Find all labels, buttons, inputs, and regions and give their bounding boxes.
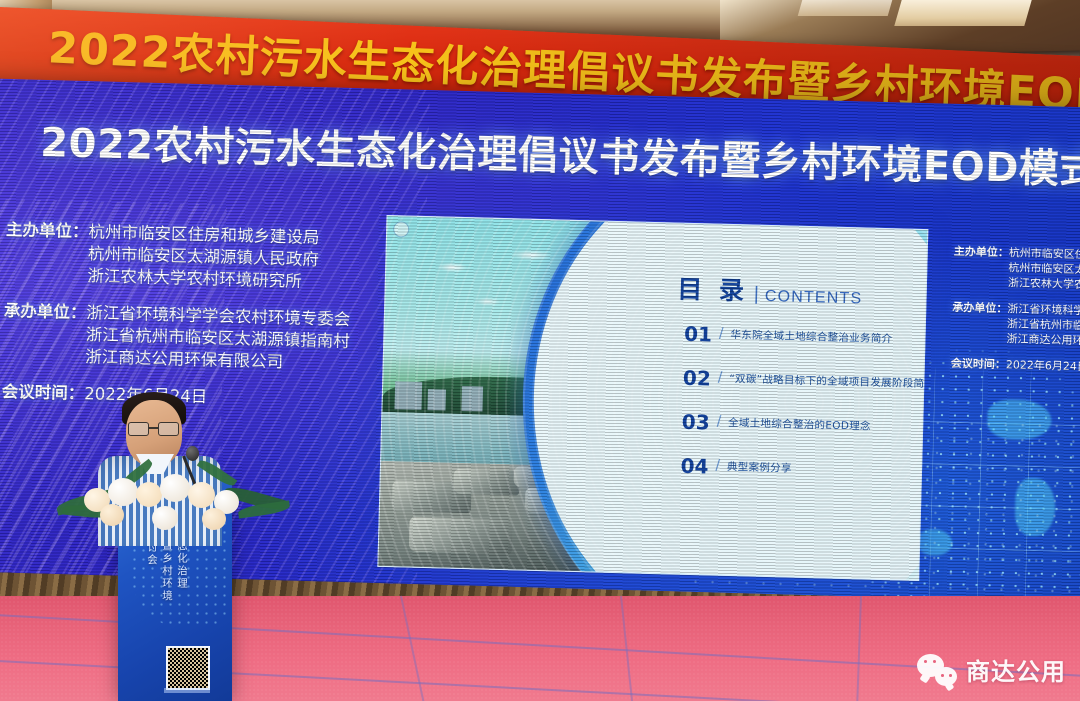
glasses-bridge (149, 427, 158, 429)
organizer-item: 浙江农林大学农村环境研究所 (87, 265, 318, 293)
toc-heading-divider: | (754, 283, 760, 307)
toc-item: 03 / 全域土地综合整治的EOD理念 (682, 409, 923, 439)
slide-table-of-contents: 目 录 | CONTENTS 01 / 华东院全域土地综合整治业务简介 02 /… (672, 269, 926, 503)
meeting-time-label: 会议时间： (2, 381, 85, 405)
organizer-label-right: 主办单位： (953, 244, 1009, 290)
glasses-icon (128, 422, 149, 436)
organizer-item-right: 浙江农林大学农村环境研究所 (1008, 275, 1080, 294)
toc-item-number: 03 (682, 409, 710, 434)
toc-item: 04 / 典型案例分享 (680, 453, 921, 483)
toc-item-slash: / (715, 457, 720, 475)
cohost-label-right: 承办单位： (951, 300, 1007, 346)
flower-arrangement (56, 462, 292, 540)
toc-item-text: 典型案例分享 (727, 459, 792, 476)
ceiling-light-secondary (798, 0, 893, 16)
ceiling-light (894, 0, 1031, 26)
qr-code (166, 646, 210, 690)
toc-item-number: 02 (683, 365, 711, 390)
event-info-right: 主办单位： 杭州市临安区住房和城乡建设局 杭州市临安区太湖源镇人民政府 浙江农林… (951, 244, 1080, 379)
toc-item-text: 华东院全域土地综合整治业务简介 (730, 327, 892, 346)
presentation-slide: 目 录 | CONTENTS 01 / 华东院全域土地综合整治业务简介 02 /… (377, 215, 928, 581)
toc-item: 02 / “双碳”战略目标下的全域项目发展阶段简析 (683, 365, 924, 395)
qr-code-caption (164, 688, 210, 693)
cohost-label: 承办单位： (2, 300, 86, 368)
organizer-list: 杭州市临安区住房和城乡建设局 杭州市临安区太湖源镇人民政府 浙江农林大学农村环境… (87, 221, 320, 293)
toc-heading-cn: 目 录 (677, 269, 749, 307)
toc-item: 01 / 华东院全域土地综合整治业务简介 (684, 321, 925, 351)
meeting-time-value-right: 2022年6月24日 (1006, 357, 1080, 374)
conference-photo-scene: 2022农村污水生态化治理倡议书发布暨乡村环境EOD模式研讨会 2022农村污水… (0, 0, 1080, 701)
cohost-list: 浙江省环境科学学会农村环境专委会 浙江省杭州市临安区太湖源镇指南村 浙江商达公用… (85, 302, 351, 375)
meeting-time-label-right: 会议时间： (951, 356, 1006, 372)
toc-item-number: 01 (684, 321, 712, 346)
watermark-text: 商达公用 (966, 652, 1066, 687)
toc-item-text: 全域土地综合整治的EOD理念 (728, 415, 871, 434)
microphone-icon (186, 446, 199, 461)
toc-item-number: 04 (680, 453, 708, 478)
toc-item-slash: / (718, 369, 723, 387)
toc-item-slash: / (716, 413, 721, 431)
glasses-icon (158, 422, 179, 436)
watermark: 商达公用 (917, 652, 1066, 687)
toc-item-slash: / (719, 325, 724, 343)
wechat-icon (917, 654, 957, 686)
event-info-left: 主办单位： 杭州市临安区住房和城乡建设局 杭州市临安区太湖源镇人民政府 浙江农林… (1, 219, 352, 414)
toc-heading: 目 录 | CONTENTS (677, 269, 926, 311)
toc-item-text: “双碳”战略目标下的全域项目发展阶段简析 (729, 371, 928, 391)
toc-heading-en: CONTENTS (765, 287, 863, 310)
organizer-label: 主办单位： (5, 219, 89, 287)
